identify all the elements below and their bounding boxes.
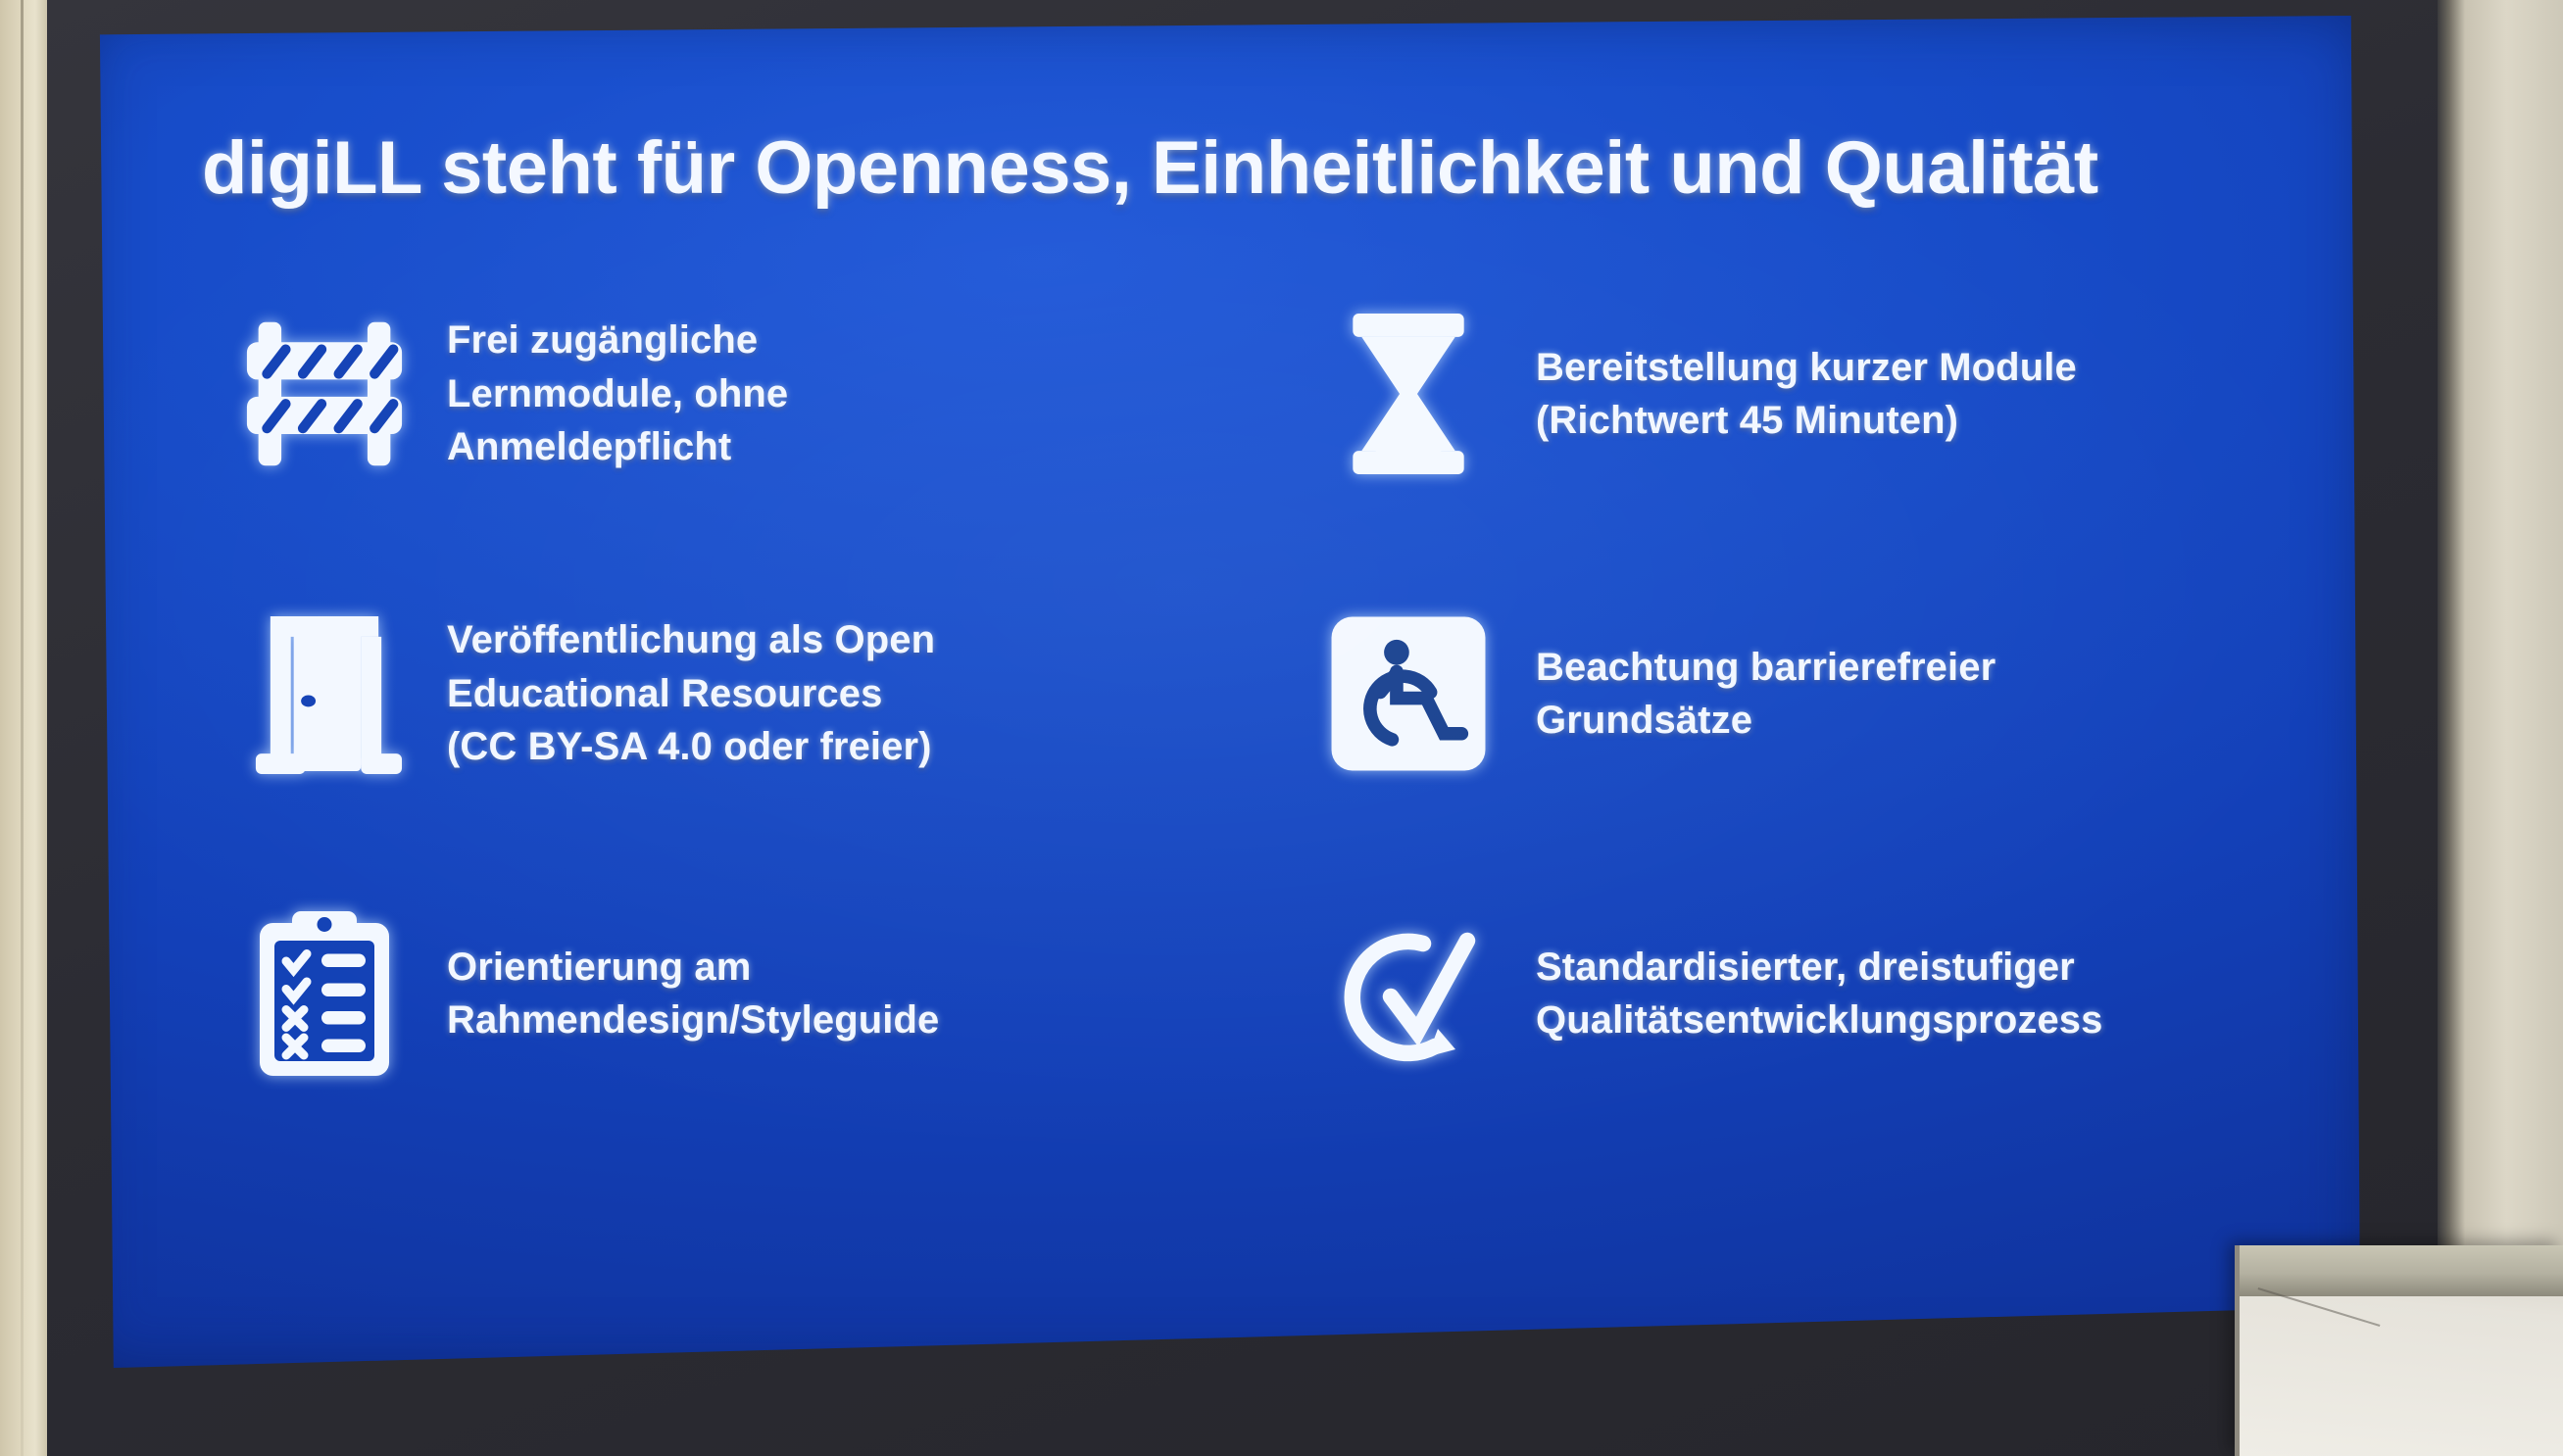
feature-line: Beachtung barrierefreier bbox=[1536, 641, 1996, 694]
left-wall bbox=[0, 0, 47, 1456]
lecture-room-photo: digiLL steht für Openness, Einheitlichke… bbox=[0, 0, 2563, 1456]
flipchart-board bbox=[2235, 1245, 2563, 1456]
feature-line: Rahmendesign/Styleguide bbox=[447, 994, 939, 1046]
feature-item-qualitaetsentwicklungsprozess: Standardisierter, dreistufiger Qualitäts… bbox=[1281, 860, 2301, 1127]
feature-line: Qualitätsentwicklungsprozess bbox=[1536, 994, 2103, 1046]
feature-item-beachtung-barrierefreier-grundsaetze: Beachtung barrierefreier Grundsätze bbox=[1281, 560, 2301, 827]
road-barrier-icon bbox=[202, 281, 447, 507]
flipchart-rail bbox=[2240, 1245, 2563, 1296]
feature-text: Standardisierter, dreistufiger Qualitäts… bbox=[1536, 941, 2103, 1047]
feature-line: (Richtwert 45 Minuten) bbox=[1536, 394, 2077, 447]
feature-item-bereitstellung-kurzer-module: Bereitstellung kurzer Module (Richtwert … bbox=[1281, 261, 2301, 527]
wall-seam bbox=[21, 0, 24, 1456]
wheelchair-accessibility-icon bbox=[1281, 581, 1536, 806]
feature-grid: Frei zugängliche Lernmodule, ohne Anmeld… bbox=[202, 261, 2301, 1127]
feature-text: Veröffentlichung als Open Educational Re… bbox=[447, 613, 935, 773]
circular-arrow-check-icon bbox=[1281, 881, 1536, 1106]
feature-text: Frei zugängliche Lernmodule, ohne Anmeld… bbox=[447, 314, 788, 473]
feature-line: Lernmodule, ohne bbox=[447, 367, 788, 420]
feature-text: Bereitstellung kurzer Module (Richtwert … bbox=[1536, 341, 2077, 448]
feature-line: Standardisierter, dreistufiger bbox=[1536, 941, 2103, 994]
hourglass-icon bbox=[1281, 281, 1536, 507]
feature-line: Orientierung am bbox=[447, 941, 939, 994]
feature-item-orientierung-am-rahmendesign: Orientierung am Rahmendesign/Styleguide bbox=[202, 860, 1222, 1127]
feature-line: Educational Resources bbox=[447, 667, 935, 720]
feature-line: Frei zugängliche bbox=[447, 314, 788, 366]
feature-text: Orientierung am Rahmendesign/Styleguide bbox=[447, 941, 939, 1047]
feature-line: Veröffentlichung als Open bbox=[447, 613, 935, 666]
feature-text: Beachtung barrierefreier Grundsätze bbox=[1536, 641, 1996, 748]
open-door-icon bbox=[202, 581, 447, 806]
feature-line: Anmeldepflicht bbox=[447, 420, 788, 473]
presentation-slide: digiLL steht für Openness, Einheitlichke… bbox=[86, 16, 2360, 1368]
slide-title: digiLL steht für Openness, Einheitlichke… bbox=[202, 125, 2260, 211]
feature-line: Grundsätze bbox=[1536, 694, 1996, 747]
feature-line: Bereitstellung kurzer Module bbox=[1536, 341, 2077, 394]
feature-line: (CC BY-SA 4.0 oder freier) bbox=[447, 720, 935, 773]
feature-item-veroeffentlichung-als-oer: Veröffentlichung als Open Educational Re… bbox=[202, 560, 1222, 827]
clipboard-checklist-icon bbox=[202, 881, 447, 1106]
right-wall bbox=[2438, 0, 2563, 1456]
feature-item-frei-zugaengliche-lernmodule: Frei zugängliche Lernmodule, ohne Anmeld… bbox=[202, 261, 1222, 527]
